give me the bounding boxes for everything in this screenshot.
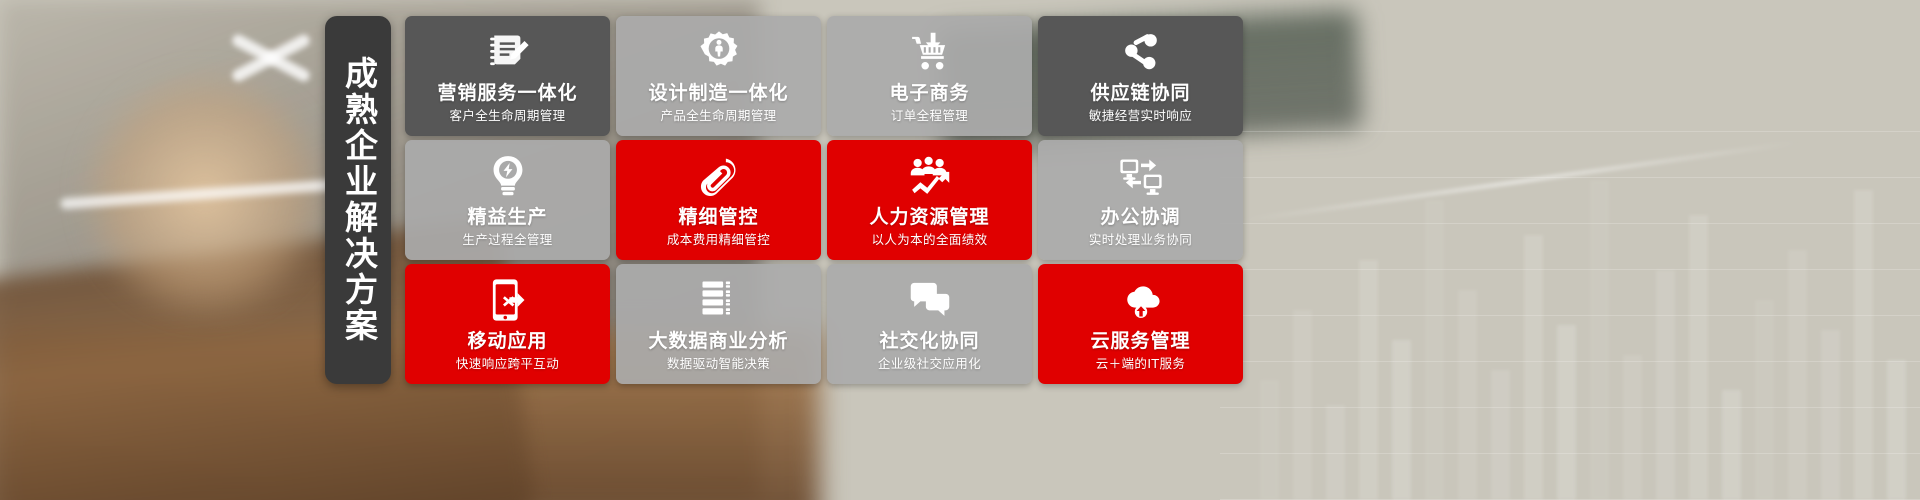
solution-card-subtitle: 生产过程全管理	[462, 234, 552, 247]
vertical-title-panel: 成熟企业解决方案	[325, 16, 391, 384]
solution-card-title: 办公协调	[1100, 208, 1180, 227]
share-network-icon	[1119, 30, 1163, 74]
solution-card-title: 供应链协同	[1090, 84, 1190, 103]
solution-card-subtitle: 企业级社交应用化	[878, 358, 981, 371]
solution-card[interactable]: 精细管控成本费用精细管控	[616, 140, 821, 260]
solution-card-subtitle: 成本费用精细管控	[667, 234, 770, 247]
solution-card-title: 云服务管理	[1090, 332, 1190, 351]
solution-card-subtitle: 以人为本的全面绩效	[871, 234, 987, 247]
cloud-upload-icon	[1119, 278, 1163, 322]
solution-card-subtitle: 订单全程管理	[891, 110, 968, 123]
page-title: 成熟企业解决方案	[341, 56, 376, 344]
paperclip-icon	[697, 154, 741, 198]
gear-person-icon	[697, 30, 741, 74]
solution-card[interactable]: 设计制造一体化产品全生命周期管理	[616, 16, 821, 136]
solution-card-title: 电子商务	[889, 84, 969, 103]
solution-card-subtitle: 云＋端的IT服务	[1096, 358, 1186, 371]
solution-card-title: 精细管控	[678, 208, 758, 227]
people-growth-icon	[908, 154, 952, 198]
solution-card[interactable]: 社交化协同企业级社交应用化	[827, 264, 1032, 384]
solution-card-subtitle: 客户全生命周期管理	[449, 110, 565, 123]
solution-card[interactable]: 办公协调实时处理业务协同	[1038, 140, 1243, 260]
solution-card-title: 设计制造一体化	[648, 84, 788, 103]
solution-card[interactable]: 营销服务一体化客户全生命周期管理	[405, 16, 610, 136]
solution-card[interactable]: 供应链协同敏捷经营实时响应	[1038, 16, 1243, 136]
mobile-device-icon	[486, 278, 530, 322]
banner-content: 成熟企业解决方案 营销服务一体化客户全生命周期管理设计制造一体化产品全生命周期管…	[0, 0, 1920, 500]
solution-card-subtitle: 快速响应跨平互动	[456, 358, 559, 371]
server-stack-icon	[697, 278, 741, 322]
solution-card[interactable]: 大数据商业分析数据驱动智能决策	[616, 264, 821, 384]
solution-card-subtitle: 产品全生命周期管理	[660, 110, 776, 123]
notepad-check-icon	[486, 30, 530, 74]
shopping-cart-download-icon	[908, 30, 952, 74]
solution-card[interactable]: 精益生产生产过程全管理	[405, 140, 610, 260]
solution-card-subtitle: 敏捷经营实时响应	[1089, 110, 1192, 123]
solution-card-title: 移动应用	[467, 332, 547, 351]
solution-card-subtitle: 数据驱动智能决策	[667, 358, 770, 371]
chat-bubbles-icon	[908, 278, 952, 322]
solution-card-title: 营销服务一体化	[437, 84, 577, 103]
solution-card-title: 人力资源管理	[869, 208, 989, 227]
solution-card[interactable]: 电子商务订单全程管理	[827, 16, 1032, 136]
solution-card-subtitle: 实时处理业务协同	[1089, 234, 1192, 247]
solution-card[interactable]: 云服务管理云＋端的IT服务	[1038, 264, 1243, 384]
solution-card[interactable]: 人力资源管理以人为本的全面绩效	[827, 140, 1032, 260]
solution-card[interactable]: 移动应用快速响应跨平互动	[405, 264, 610, 384]
lightbulb-bolt-icon	[486, 154, 530, 198]
solution-card-title: 社交化协同	[879, 332, 979, 351]
solution-card-grid: 营销服务一体化客户全生命周期管理设计制造一体化产品全生命周期管理电子商务订单全程…	[405, 16, 1243, 384]
solution-card-title: 大数据商业分析	[648, 332, 788, 351]
screens-sync-icon	[1119, 154, 1163, 198]
solution-card-title: 精益生产	[467, 208, 547, 227]
banner-stage: 成熟企业解决方案 营销服务一体化客户全生命周期管理设计制造一体化产品全生命周期管…	[0, 0, 1920, 500]
